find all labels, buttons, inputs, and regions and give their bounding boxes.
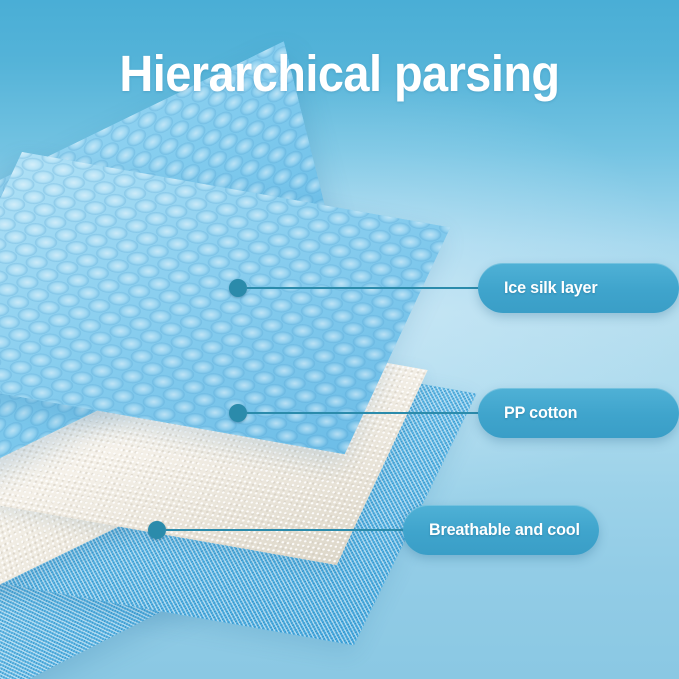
callout-label-breathable-mesh: Breathable and cool <box>429 520 580 540</box>
callout-dot-ice-silk <box>229 279 247 297</box>
callout-pill-pp-cotton[interactable]: PP cotton <box>478 388 679 438</box>
callout-pill-breathable-mesh[interactable]: Breathable and cool <box>403 505 599 555</box>
callout-line-breathable-mesh <box>166 529 414 531</box>
callout-label-pp-cotton: PP cotton <box>504 403 577 423</box>
callout-label-ice-silk: Ice silk layer <box>504 278 597 298</box>
callout-dot-breathable-mesh <box>148 521 166 539</box>
callout-line-ice-silk <box>247 287 488 289</box>
callout-dot-pp-cotton <box>229 404 247 422</box>
callout-pill-ice-silk[interactable]: Ice silk layer <box>478 263 679 313</box>
callout-line-pp-cotton <box>247 412 488 414</box>
page-title: Hierarchical parsing <box>27 44 652 104</box>
screenshot-canvas: Hierarchical parsing Ice silk layer PP c… <box>0 0 679 679</box>
